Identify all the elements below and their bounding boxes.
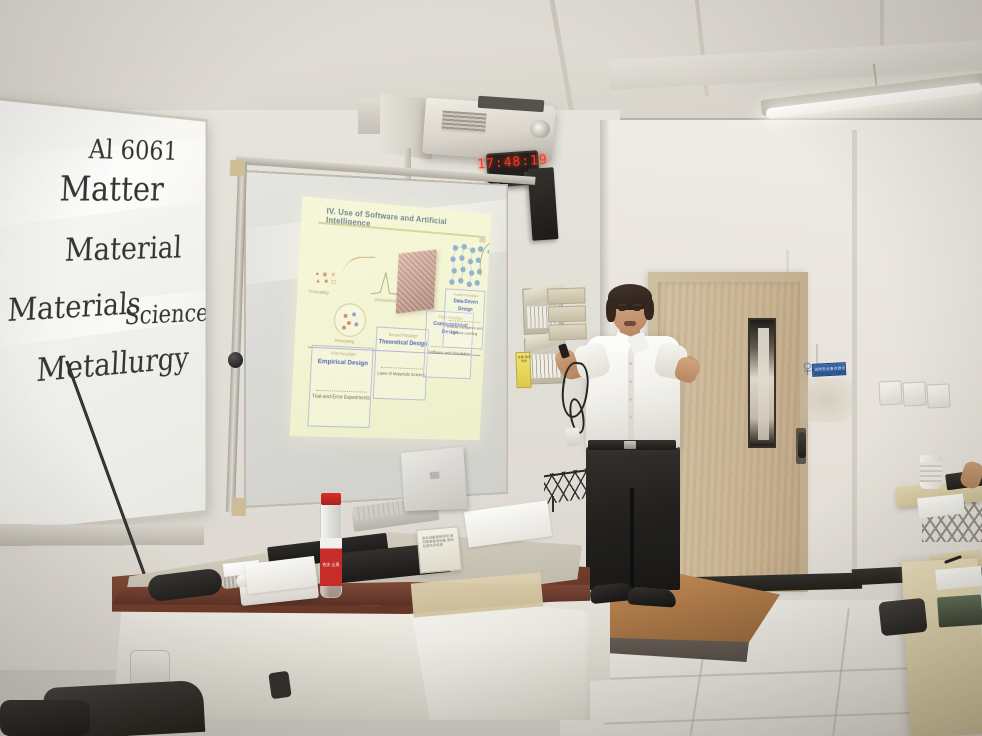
placard-text: 讲台设备使用说明 请勿随意移动设备 使用后请关闭电源 bbox=[422, 533, 457, 548]
lecturer-shoe bbox=[627, 586, 676, 607]
microphone-capsule[interactable] bbox=[228, 352, 243, 368]
door-vision-panel bbox=[748, 318, 776, 448]
high-voltage-warning-label: 注意 高压 危险 bbox=[515, 352, 531, 389]
wall-safety-sign: 消防安全重点部位 bbox=[812, 362, 847, 377]
bottle-cap bbox=[321, 493, 341, 505]
paradigm-name: Theoretical Design bbox=[378, 339, 427, 349]
trouser-seam bbox=[630, 488, 634, 592]
projected-slide: IV. Use of Software and Artificial Intel… bbox=[290, 196, 492, 440]
desk-bag bbox=[937, 595, 982, 628]
whiteboard-text-line: Al 6061 bbox=[88, 133, 178, 166]
belt-buckle bbox=[624, 441, 636, 449]
graphic-label-processing: Processing bbox=[309, 289, 329, 295]
whiteboard-text-line: Science bbox=[124, 299, 208, 331]
desk-paper bbox=[935, 566, 982, 590]
projector-wall-plate bbox=[358, 98, 382, 134]
lanyard-badge bbox=[565, 427, 581, 447]
paradigm-detail: Trial-and-Error Experiments bbox=[312, 394, 371, 402]
wall-seam bbox=[852, 130, 857, 590]
lecturer-eye bbox=[634, 308, 640, 311]
whiteboard-text-line: Metallurgy bbox=[36, 340, 190, 390]
whiteboard-text-line: Matter bbox=[59, 170, 165, 210]
paradigm-detail: Laws of Materials Science bbox=[377, 371, 426, 379]
podium-instruction-placard: 讲台设备使用说明 请勿随意移动设备 使用后请关闭电源 bbox=[416, 526, 462, 573]
wall-stain bbox=[800, 378, 852, 422]
paradigm-name: Data-Driven Design bbox=[446, 298, 485, 315]
lecturer-eyebrow bbox=[618, 304, 627, 306]
paradigm-name: Empirical Design bbox=[314, 358, 373, 368]
paradigm-ordinal: First Paradigm bbox=[314, 350, 372, 358]
shirt-placket bbox=[628, 344, 634, 442]
floor-bag bbox=[878, 598, 927, 637]
atom-symbols-graphic: ● ◉ ✕ ▲ ■ ◻ bbox=[315, 271, 340, 289]
classroom-scene: 17:48:19 · · · · · · C Al 6061 Matter Ma… bbox=[0, 0, 982, 736]
paradigm-box-second: Second Paradigm Theoretical Design Laws … bbox=[373, 327, 429, 401]
graphic-label-processing: Processing bbox=[335, 338, 355, 344]
paradigm-divider bbox=[316, 390, 367, 393]
paradigm-detail: Software and Simulation bbox=[427, 350, 471, 358]
lecturer-eye bbox=[619, 308, 625, 311]
laptop-screen[interactable] bbox=[401, 447, 468, 512]
board-cap bbox=[230, 160, 245, 177]
door-handle[interactable] bbox=[798, 432, 806, 458]
whiteboard-text-line: Material bbox=[64, 229, 183, 268]
lecturer-mouth bbox=[624, 321, 636, 326]
lecturer-eyebrow bbox=[633, 304, 642, 306]
material-cube-graphic bbox=[396, 250, 437, 314]
foreground-bag bbox=[0, 700, 90, 736]
wall-socket[interactable] bbox=[878, 380, 902, 405]
shirt-button bbox=[629, 362, 632, 365]
podium-lock[interactable] bbox=[268, 671, 291, 700]
door-glass-reflection bbox=[758, 328, 769, 440]
wall-socket[interactable] bbox=[926, 383, 950, 408]
lecturer-hair bbox=[644, 298, 654, 320]
lecturer-hair bbox=[606, 298, 616, 322]
shirt-button bbox=[629, 416, 632, 419]
cup-ribs bbox=[920, 462, 942, 482]
podium-front-curve bbox=[412, 600, 590, 720]
shirt-button bbox=[629, 380, 632, 383]
bottle-label: 农夫 山泉 bbox=[320, 538, 342, 586]
bottle-label-text: 农夫 山泉 bbox=[322, 562, 340, 567]
paradigm-box-first: First Paradigm Empirical Design Trial-an… bbox=[307, 345, 373, 428]
paradigm-box-fourth: Fourth Paradigm Data-Driven Design Artif… bbox=[442, 288, 485, 349]
laptop-logo bbox=[430, 471, 440, 479]
wall-socket[interactable] bbox=[902, 381, 926, 406]
paradigm-ordinal: Second Paradigm bbox=[379, 332, 428, 340]
projector-vent bbox=[441, 110, 486, 133]
cube-texture bbox=[396, 250, 437, 314]
paradigm-divider bbox=[449, 320, 480, 323]
shirt-button bbox=[629, 398, 632, 401]
paradigm-detail: Artificial Intelligence and Machine Lear… bbox=[445, 324, 484, 338]
safety-sign-text: 消防安全重点部位 bbox=[813, 366, 847, 373]
paradigm-divider bbox=[381, 367, 423, 370]
microstructure-circle-graphic bbox=[333, 302, 367, 337]
warning-label-text: 注意 高压 危险 bbox=[518, 356, 531, 364]
